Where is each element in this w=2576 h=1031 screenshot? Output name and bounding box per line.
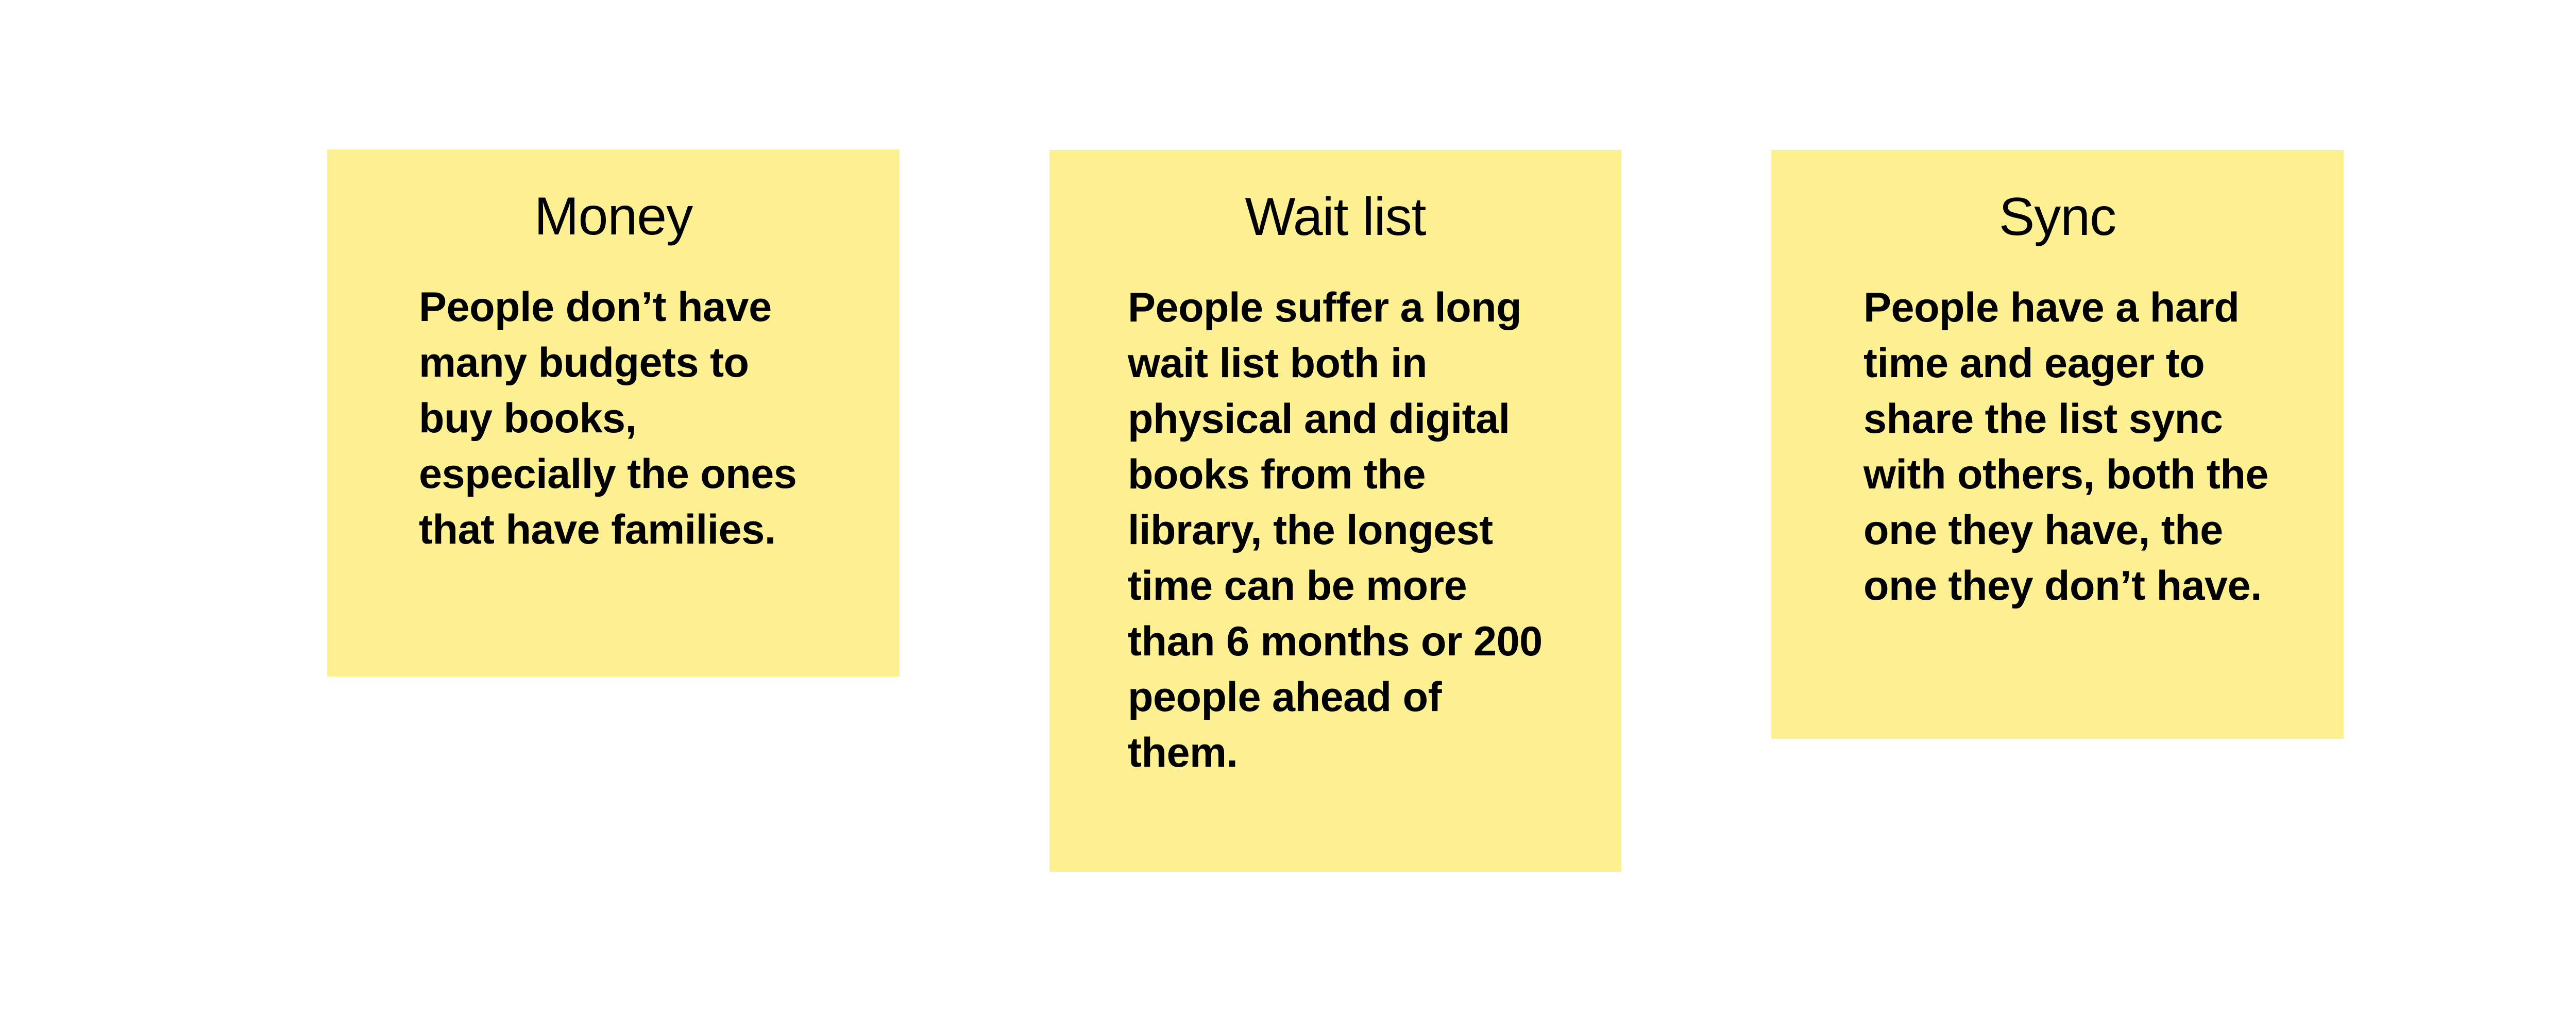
sticky-note-body: People don’t have many budgets to buy bo… [419,279,810,557]
sticky-note-body: People suffer a long wait list both in p… [1128,280,1555,781]
sticky-note-title: Money [327,185,900,247]
sticky-note-title: Wait list [1049,186,1621,248]
sticky-note-sync[interactable]: Sync People have a hard time and eager t… [1771,150,2344,739]
sticky-note-title: Sync [1771,186,2344,248]
sticky-note-board: Money People don’t have many budgets to … [0,0,2576,1031]
sticky-note-wait-list[interactable]: Wait list People suffer a long wait list… [1049,150,1621,872]
sticky-note-money[interactable]: Money People don’t have many budgets to … [327,149,900,677]
sticky-note-body: People have a hard time and eager to sha… [1863,280,2276,614]
